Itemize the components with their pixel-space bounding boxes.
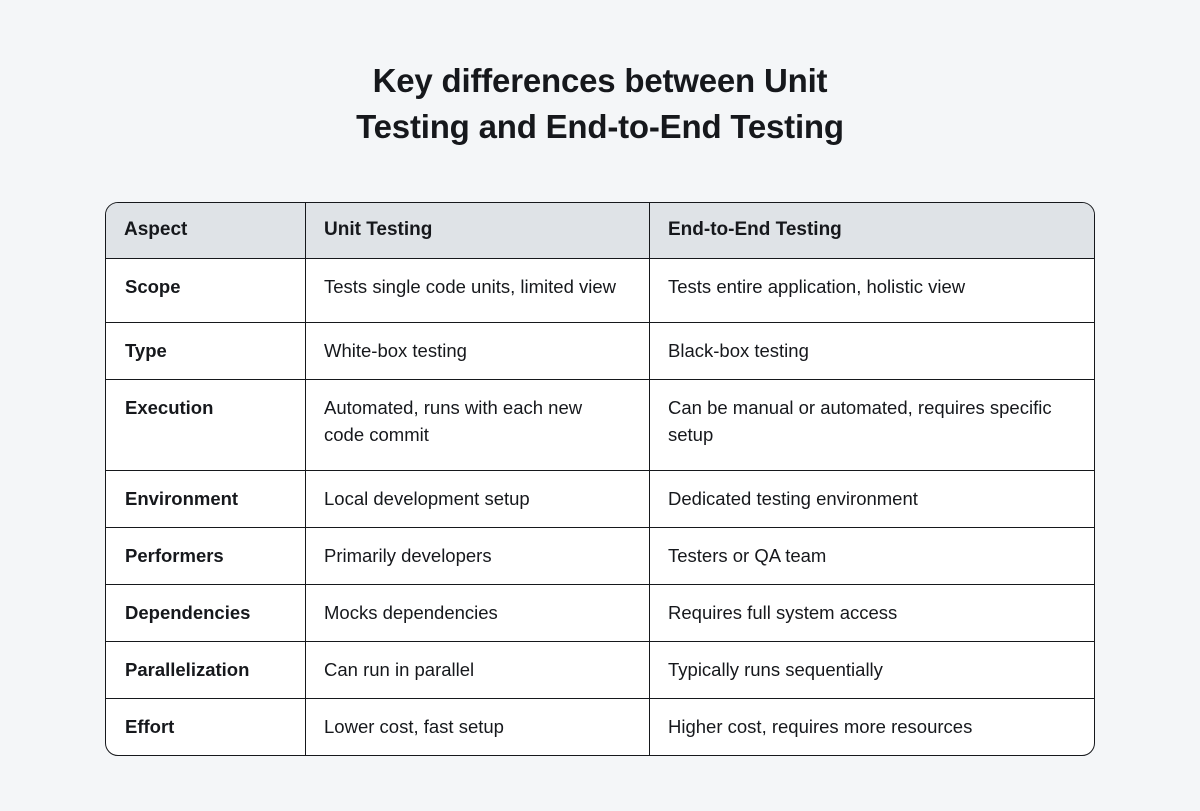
table-row: Effort Lower cost, fast setup Higher cos… (106, 698, 1094, 755)
cell-e2e: Typically runs sequentially (649, 641, 1094, 698)
cell-aspect: Performers (106, 527, 305, 584)
cell-aspect: Dependencies (106, 584, 305, 641)
cell-e2e: Tests entire application, holistic view (649, 259, 1094, 322)
cell-unit: Lower cost, fast setup (305, 698, 649, 755)
table-row: Execution Automated, runs with each new … (106, 379, 1094, 470)
cell-aspect: Parallelization (106, 641, 305, 698)
cell-unit: Can run in parallel (305, 641, 649, 698)
cell-e2e: Higher cost, requires more resources (649, 698, 1094, 755)
cell-aspect: Scope (106, 259, 305, 322)
page-root: Key differences between Unit Testing and… (0, 0, 1200, 811)
page-title-line-1: Key differences between Unit (0, 58, 1200, 104)
page-title: Key differences between Unit Testing and… (0, 58, 1200, 150)
table-row: Dependencies Mocks dependencies Requires… (106, 584, 1094, 641)
cell-aspect: Type (106, 322, 305, 379)
cell-e2e: Dedicated testing environment (649, 470, 1094, 527)
cell-unit: Mocks dependencies (305, 584, 649, 641)
cell-e2e: Can be manual or automated, requires spe… (649, 379, 1094, 470)
cell-aspect: Environment (106, 470, 305, 527)
cell-e2e: Black-box testing (649, 322, 1094, 379)
cell-e2e: Requires full system access (649, 584, 1094, 641)
column-header-end-to-end-testing: End-to-End Testing (649, 203, 1094, 259)
table-row: Parallelization Can run in parallel Typi… (106, 641, 1094, 698)
table-row: Performers Primarily developers Testers … (106, 527, 1094, 584)
table-row: Scope Tests single code units, limited v… (106, 259, 1094, 322)
cell-aspect: Execution (106, 379, 305, 470)
cell-unit: White-box testing (305, 322, 649, 379)
column-header-unit-testing: Unit Testing (305, 203, 649, 259)
cell-unit: Tests single code units, limited view (305, 259, 649, 322)
table-row: Environment Local development setup Dedi… (106, 470, 1094, 527)
table-header: Aspect Unit Testing End-to-End Testing (106, 203, 1094, 259)
column-header-aspect: Aspect (106, 203, 305, 259)
table-header-row: Aspect Unit Testing End-to-End Testing (106, 203, 1094, 259)
cell-e2e: Testers or QA team (649, 527, 1094, 584)
comparison-table: Aspect Unit Testing End-to-End Testing S… (105, 202, 1095, 756)
cell-unit: Primarily developers (305, 527, 649, 584)
table-row: Type White-box testing Black-box testing (106, 322, 1094, 379)
cell-aspect: Effort (106, 698, 305, 755)
cell-unit: Local development setup (305, 470, 649, 527)
page-title-line-2: Testing and End-to-End Testing (0, 104, 1200, 150)
table-body: Scope Tests single code units, limited v… (106, 259, 1094, 755)
cell-unit: Automated, runs with each new code commi… (305, 379, 649, 470)
comparison-table-container: Aspect Unit Testing End-to-End Testing S… (105, 202, 1093, 756)
